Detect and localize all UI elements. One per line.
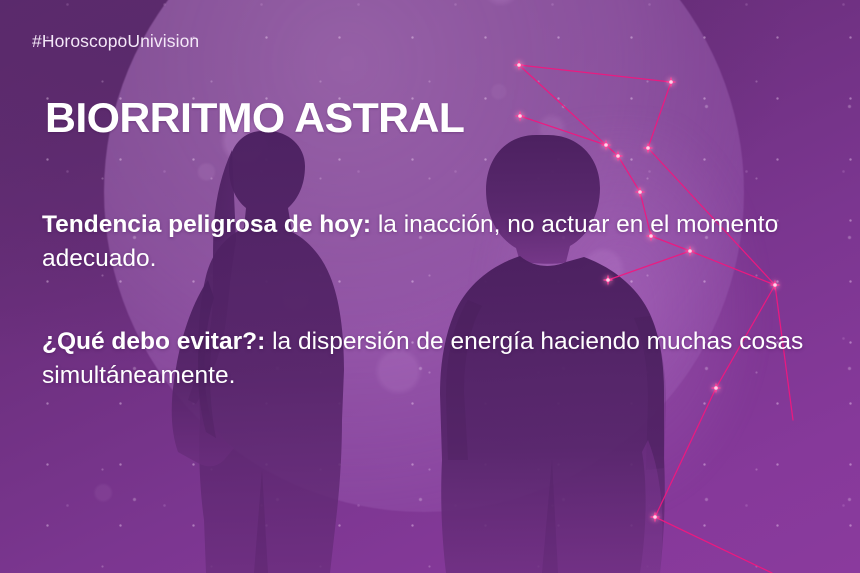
horoscope-card: #HoroscopoUnivision BIORRITMO ASTRAL Ten… [0, 0, 860, 573]
paragraph-evitar-label: ¿Qué debo evitar?: [42, 328, 265, 355]
paragraph-evitar: ¿Qué debo evitar?: la dispersión de ener… [42, 325, 832, 393]
text-content: #HoroscopoUnivision BIORRITMO ASTRAL Ten… [0, 0, 860, 573]
page-title: BIORRITMO ASTRAL [45, 97, 464, 139]
paragraph-tendencia-label: Tendencia peligrosa de hoy: [42, 211, 371, 238]
paragraph-tendencia: Tendencia peligrosa de hoy: la inacción,… [42, 208, 832, 276]
hashtag-label: #HoroscopoUnivision [32, 31, 199, 52]
